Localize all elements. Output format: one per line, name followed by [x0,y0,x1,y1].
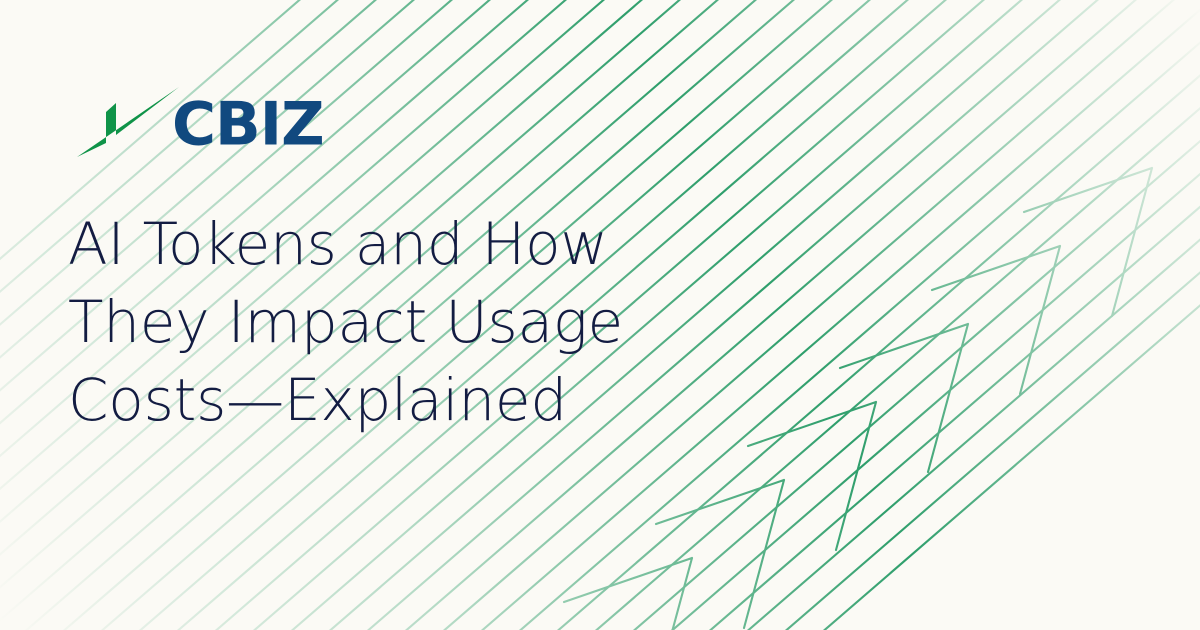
cbiz-swoosh-arrow-icon [76,86,180,158]
title-line-3: Costs—Explained [68,361,768,439]
social-card: CBIZ AI Tokens and How They Impact Usage… [0,0,1200,630]
page-title: AI Tokens and How They Impact Usage Cost… [68,205,768,439]
cbiz-wordmark: CBIZ [172,96,366,156]
title-line-2: They Impact Usage [68,283,768,361]
title-line-1: AI Tokens and How [68,205,768,283]
cbiz-logo[interactable]: CBIZ [76,82,366,158]
cbiz-wordmark-text: CBIZ [172,96,324,156]
